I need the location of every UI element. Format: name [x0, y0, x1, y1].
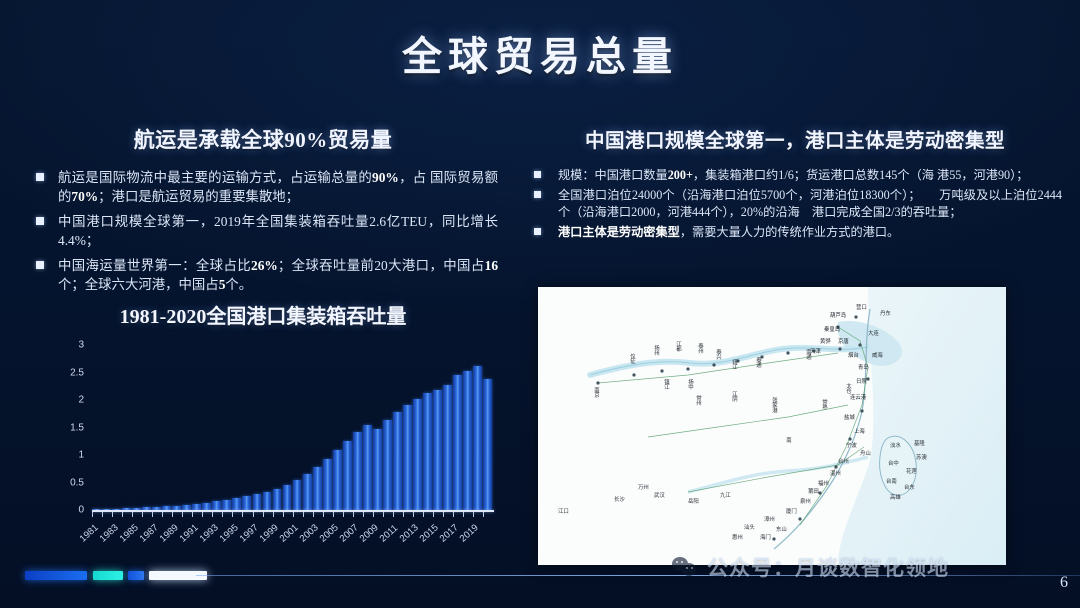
chart-title: 1981-2020全国港口集装箱吞吐量 [28, 300, 498, 329]
chart-bar [343, 441, 352, 510]
svg-text:花莲: 花莲 [906, 467, 917, 475]
svg-text:江阴: 江阴 [731, 391, 738, 403]
chart-bar [283, 485, 292, 510]
x-tick-label: 1997 [238, 522, 261, 544]
x-tick-label: 2015 [418, 522, 441, 544]
bullet-text: 全国港口泊位24000个（沿海港口泊位5700个，河港泊位18300个）； 万吨… [558, 188, 1062, 219]
svg-text:淡水: 淡水 [890, 441, 901, 449]
list-item: 规模：中国港口数量200+，集装箱港口约1/6；货运港口总数145个（海 港55… [528, 167, 1062, 184]
x-tick-mark [423, 512, 432, 517]
x-tick-mark [152, 512, 161, 517]
x-tick-mark [333, 512, 342, 517]
x-tick-mark [242, 512, 251, 517]
chart-bar [483, 379, 492, 510]
svg-text:莆田: 莆田 [808, 487, 819, 495]
svg-text:丹东: 丹东 [880, 309, 891, 317]
x-tick-mark [102, 512, 111, 517]
x-tick-label: 1987 [138, 522, 161, 544]
chart-bar [303, 474, 312, 510]
bullet-square-icon [534, 228, 541, 235]
svg-text:台州: 台州 [838, 457, 849, 465]
svg-text:京唐: 京唐 [838, 337, 849, 345]
svg-text:温州: 温州 [830, 469, 841, 477]
x-tick-mark [303, 512, 312, 517]
svg-text:海门: 海门 [760, 533, 771, 541]
chart-bar [463, 371, 472, 510]
svg-text:厦门: 厦门 [786, 507, 797, 515]
slide-root: 全球贸易总量 航运是承载全球90%贸易量 航运是国际物流中最主要的运输方式，占运… [0, 0, 1080, 608]
svg-text:台东: 台东 [904, 483, 915, 491]
svg-text:泉州: 泉州 [800, 497, 811, 505]
svg-text:连云港: 连云港 [850, 393, 867, 401]
svg-text:仪征: 仪征 [629, 353, 636, 365]
x-tick-label: 1981 [78, 522, 101, 544]
x-tick-mark [433, 512, 442, 517]
x-tick-mark [373, 512, 382, 517]
svg-text:靖江: 靖江 [731, 358, 738, 371]
y-tick-label: 2 [78, 395, 84, 406]
x-tick-label: 2011 [378, 523, 401, 545]
svg-text:九江: 九江 [720, 491, 731, 499]
svg-text:常熟: 常熟 [821, 398, 828, 411]
x-tick-mark [92, 512, 101, 517]
x-tick-mark [473, 512, 482, 517]
svg-text:东山: 东山 [776, 525, 787, 533]
chart-bar [423, 393, 432, 510]
svg-text:武汉: 武汉 [654, 491, 665, 499]
x-tick-mark [162, 512, 171, 517]
bullet-square-icon [36, 217, 44, 225]
list-item: 中国海运量世界第一：全球占比26%；全球吞吐量前20大港口，中国占16个；全球六… [28, 256, 498, 295]
chart-bar [253, 494, 262, 510]
chart-bar [413, 399, 422, 510]
bullet-text: 中国海运量世界第一：全球占比26%；全球吞吐量前20大港口，中国占16个；全球六… [58, 258, 498, 292]
x-tick-mark [253, 512, 262, 517]
bullet-square-icon [36, 261, 44, 269]
svg-text:苏澳: 苏澳 [916, 453, 927, 461]
x-tick-label: 1991 [178, 522, 201, 544]
svg-text:太仓: 太仓 [845, 382, 852, 394]
bullet-text: 航运是国际物流中最主要的运输方式，占运输总量的90%，占 国际贸易额的70%；港… [58, 170, 498, 204]
chart-bar [393, 412, 402, 510]
x-tick-label: 2019 [458, 522, 481, 544]
svg-text:宁波: 宁波 [846, 441, 857, 449]
x-tick-label: 2009 [358, 522, 381, 544]
svg-text:泰州: 泰州 [697, 342, 704, 354]
x-tick-mark [383, 512, 392, 517]
chart-bar [443, 385, 452, 510]
y-tick-label: 0.5 [70, 477, 84, 488]
svg-text:泰兴: 泰兴 [715, 348, 722, 361]
x-tick-mark [313, 512, 322, 517]
chart-bar [433, 390, 442, 510]
list-item: 港口主体是劳动密集型，需要大量人力的传统作业方式的港口。 [528, 224, 1062, 241]
x-tick-mark [132, 512, 141, 517]
x-tick-label: 1993 [198, 522, 221, 544]
svg-text:高雄: 高雄 [890, 493, 901, 501]
svg-text:汕头: 汕头 [744, 523, 755, 531]
chart-plot-area [92, 345, 492, 510]
svg-text:扬中: 扬中 [687, 378, 694, 391]
svg-text:秦皇岛: 秦皇岛 [824, 325, 840, 333]
left-column: 航运是承载全球90%贸易量 航运是国际物流中最主要的运输方式，占运输总量的90%… [28, 124, 498, 300]
y-tick-label: 1.5 [70, 422, 84, 433]
x-tick-mark [202, 512, 211, 517]
svg-text:张家港: 张家港 [771, 396, 778, 415]
x-tick-mark [403, 512, 412, 517]
svg-text:大连: 大连 [868, 329, 879, 337]
x-tick-mark [192, 512, 201, 517]
left-bullet-list: 航运是国际物流中最主要的运输方式，占运输总量的90%，占 国际贸易额的70%；港… [28, 168, 498, 295]
chart-bar [202, 503, 211, 510]
x-tick-label: 1999 [258, 522, 281, 544]
chart-bar [453, 375, 462, 510]
svg-text:黄骅: 黄骅 [820, 337, 831, 345]
bullet-square-icon [534, 191, 541, 198]
svg-text:台南: 台南 [886, 477, 897, 485]
svg-text:营口: 营口 [856, 303, 867, 311]
x-tick-mark [182, 512, 191, 517]
chart-bar [313, 467, 322, 510]
page-title: 全球贸易总量 [0, 24, 1080, 82]
china-ports-map: 南京 仪征 扬州 江都 泰州 泰兴 扬中 镇江 常州 靖江 江阴 泰通 张家港 … [538, 287, 1006, 565]
x-tick-mark [263, 512, 272, 517]
svg-text:岳阳: 岳阳 [688, 497, 699, 505]
x-tick-label: 2001 [278, 522, 301, 544]
svg-text:舟山: 舟山 [860, 449, 871, 457]
svg-text:盐城: 盐城 [844, 413, 855, 421]
chart-bar [242, 496, 251, 510]
right-heading: 中国港口规模全球第一，港口主体是劳动密集型 [528, 124, 1062, 153]
chart-bar [263, 492, 272, 510]
x-tick-label: 2017 [438, 522, 461, 544]
map-svg: 南京 仪征 扬州 江都 泰州 泰兴 扬中 镇江 常州 靖江 江阴 泰通 张家港 … [538, 287, 1006, 565]
chart-bar [333, 450, 342, 510]
svg-text:烟台: 烟台 [848, 351, 859, 359]
svg-text:台中: 台中 [888, 459, 899, 467]
svg-text:万州: 万州 [638, 484, 649, 491]
svg-text:葫芦岛: 葫芦岛 [830, 311, 846, 319]
svg-text:江口: 江口 [558, 508, 569, 515]
chart-bar [363, 425, 372, 510]
x-tick-mark [172, 512, 181, 517]
x-tick-mark [393, 512, 402, 517]
x-tick-mark [212, 512, 221, 517]
y-tick-label: 2.5 [70, 367, 84, 378]
chart-bar [403, 405, 412, 510]
chart-bar [373, 429, 382, 510]
x-tick-mark [463, 512, 472, 517]
bullet-text: 规模：中国港口数量200+，集装箱港口约1/6；货运港口总数145个（海 港55… [558, 168, 1028, 182]
right-column: 中国港口规模全球第一，港口主体是劳动密集型 规模：中国港口数量200+，集装箱港… [528, 124, 1062, 244]
svg-text:南: 南 [785, 436, 792, 443]
x-tick-label: 2005 [318, 522, 341, 544]
y-tick-label: 0 [78, 505, 84, 516]
bullet-square-icon [534, 171, 541, 178]
chart-bar [232, 498, 241, 510]
chart-bar [323, 459, 332, 510]
x-tick-mark [232, 512, 241, 517]
progress-segment-1 [25, 571, 87, 580]
list-item: 中国港口规模全球第一，2019年全国集装箱吞吐量2.6亿TEU，同比增长4.4%… [28, 212, 498, 251]
svg-text:扬州: 扬州 [653, 344, 660, 356]
x-tick-mark [112, 512, 121, 517]
svg-text:镇江: 镇江 [663, 378, 670, 391]
x-tick-mark [122, 512, 131, 517]
footer-divider [196, 575, 1080, 576]
chart-bar [212, 501, 221, 510]
svg-text:青岛: 青岛 [858, 363, 869, 371]
chart-x-ticks [92, 512, 492, 517]
chart-bar [353, 432, 362, 510]
svg-text:上海: 上海 [854, 427, 865, 435]
list-item: 航运是国际物流中最主要的运输方式，占运输总量的90%，占 国际贸易额的70%；港… [28, 168, 498, 207]
x-tick-label: 1983 [98, 522, 121, 544]
svg-text:南京: 南京 [593, 386, 600, 399]
x-tick-mark [413, 512, 422, 517]
bullet-text: 港口主体是劳动密集型，需要大量人力的传统作业方式的港口。 [558, 225, 899, 239]
right-bullet-list: 规模：中国港口数量200+，集装箱港口约1/6；货运港口总数145个（海 港55… [528, 167, 1062, 241]
x-tick-label: 2003 [298, 522, 321, 544]
x-tick-mark [443, 512, 452, 517]
left-heading: 航运是承载全球90%贸易量 [28, 124, 498, 154]
x-tick-label: 1995 [218, 522, 241, 544]
svg-text:泰通: 泰通 [755, 356, 762, 369]
x-tick-label: 2007 [338, 522, 361, 544]
bullet-text: 中国港口规模全球第一，2019年全国集装箱吞吐量2.6亿TEU，同比增长4.4%… [58, 214, 498, 248]
progress-segment-3 [128, 571, 144, 580]
x-tick-mark [293, 512, 302, 517]
svg-text:日照: 日照 [856, 378, 867, 385]
y-tick-label: 3 [78, 340, 84, 351]
x-tick-mark [343, 512, 352, 517]
page-number: 6 [1060, 574, 1068, 592]
x-tick-mark [323, 512, 332, 517]
chart-bar [222, 500, 231, 510]
x-tick-mark [142, 512, 151, 517]
y-tick-label: 1 [78, 450, 84, 461]
svg-text:长沙: 长沙 [614, 495, 625, 503]
x-tick-mark [453, 512, 462, 517]
x-tick-label: 1989 [158, 522, 181, 544]
x-tick-label: 2013 [398, 522, 421, 544]
svg-text:江都: 江都 [675, 341, 682, 353]
container-throughput-bar-chart: 32.521.510.50 19811983198519871989199119… [40, 345, 500, 560]
chart-bar [383, 420, 392, 510]
chart-x-tick-labels: 1981198319851987198919911993199519971999… [92, 519, 492, 561]
svg-text:惠州: 惠州 [732, 533, 743, 541]
chart-y-axis: 32.521.510.50 [40, 345, 88, 510]
x-tick-mark [222, 512, 231, 517]
svg-text:基隆: 基隆 [914, 439, 925, 447]
progress-segment-2 [93, 571, 123, 580]
svg-text:常州: 常州 [695, 394, 702, 406]
svg-text:威海: 威海 [872, 351, 883, 359]
list-item: 全国港口泊位24000个（沿海港口泊位5700个，河港泊位18300个）； 万吨… [528, 187, 1062, 221]
chart-bar [473, 366, 482, 510]
chart-bar [293, 480, 302, 510]
x-tick-mark [273, 512, 282, 517]
x-tick-mark [353, 512, 362, 517]
bullet-square-icon [36, 173, 44, 181]
x-tick-mark [283, 512, 292, 517]
chart-bar [273, 489, 282, 510]
svg-text:福州: 福州 [818, 479, 829, 487]
svg-text:天津: 天津 [810, 348, 821, 355]
x-tick-mark [363, 512, 372, 517]
svg-text:漳州: 漳州 [764, 515, 775, 523]
x-tick-label: 1985 [118, 522, 141, 544]
x-tick-mark [483, 512, 492, 517]
